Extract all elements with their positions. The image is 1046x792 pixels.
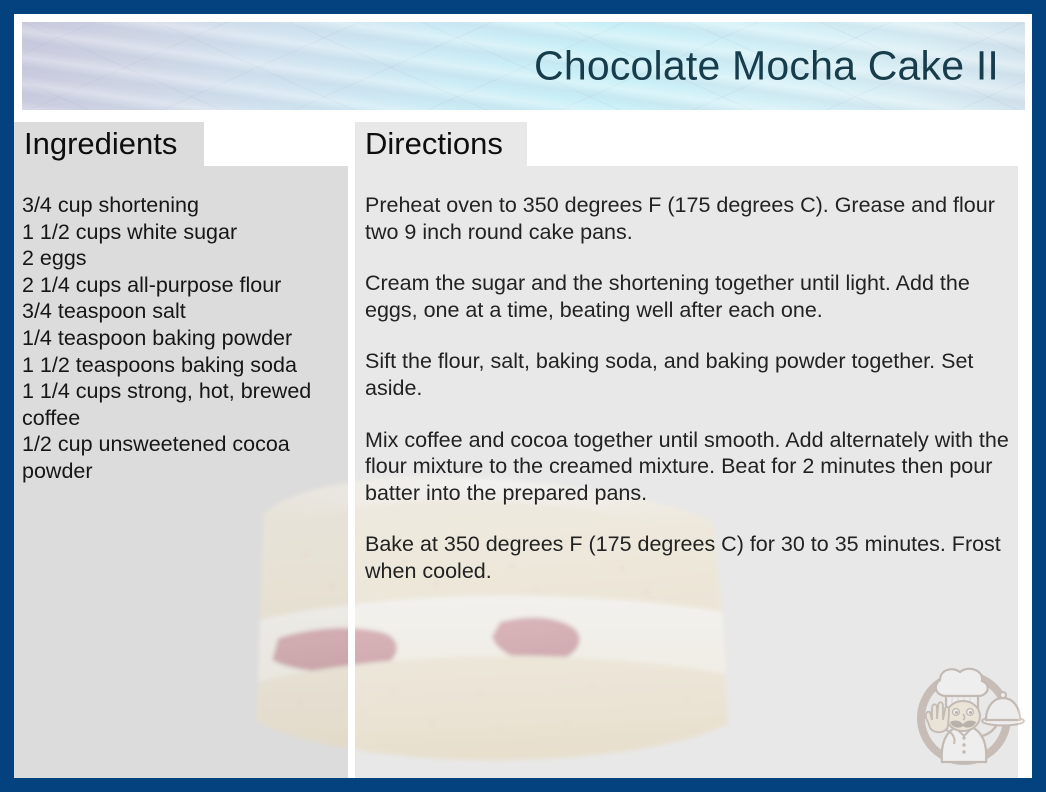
recipe-card: Chocolate Mocha Cake II <box>0 0 1046 792</box>
direction-step: Sift the flour, salt, baking soda, and b… <box>365 348 1015 401</box>
ingredients-list: 3/4 cup shortening 1 1/2 cups white suga… <box>22 192 348 485</box>
title-banner: Chocolate Mocha Cake II <box>22 22 1025 110</box>
column-divider <box>348 122 355 778</box>
ingredients-heading: Ingredients <box>24 126 177 162</box>
list-item: 1 1/2 cups white sugar <box>22 219 348 246</box>
list-item: 3/4 teaspoon salt <box>22 298 348 325</box>
list-item: 1/2 cup unsweetened cocoa powder <box>22 431 348 484</box>
direction-step: Mix coffee and cocoa together until smoo… <box>365 427 1015 507</box>
list-item: 2 1/4 cups all-purpose flour <box>22 272 348 299</box>
list-item: 1 1/4 cups strong, hot, brewed coffee <box>22 378 348 431</box>
direction-step: Preheat oven to 350 degrees F (175 degre… <box>365 192 1015 245</box>
list-item: 1 1/2 teaspoons baking soda <box>22 352 348 379</box>
direction-step: Bake at 350 degrees F (175 degrees C) fo… <box>365 531 1015 584</box>
recipe-card-inner: Chocolate Mocha Cake II <box>14 14 1032 778</box>
directions-heading: Directions <box>365 126 503 162</box>
directions-list: Preheat oven to 350 degrees F (175 degre… <box>365 192 1015 585</box>
list-item: 2 eggs <box>22 245 348 272</box>
list-item: 3/4 cup shortening <box>22 192 348 219</box>
directions-header-tab: Directions <box>355 122 527 166</box>
direction-step: Cream the sugar and the shortening toget… <box>365 270 1015 323</box>
page-title: Chocolate Mocha Cake II <box>534 43 999 90</box>
list-item: 1/4 teaspoon baking powder <box>22 325 348 352</box>
ingredients-header-tab: Ingredients <box>14 122 204 166</box>
